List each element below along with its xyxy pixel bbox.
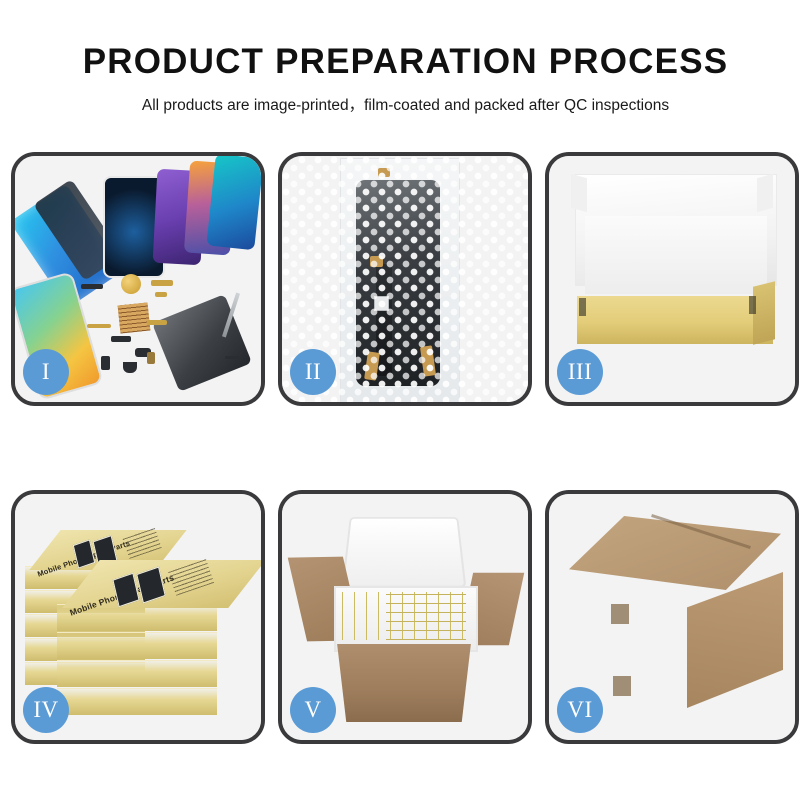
foam-lid	[342, 517, 467, 588]
screw-set	[225, 356, 239, 359]
box-notch-right	[749, 296, 756, 314]
step-panel-4[interactable]: Mobile Phone Spare Parts Mobile Phone Sp…	[11, 490, 265, 744]
part-strip-5	[123, 362, 137, 373]
kraft-box-front	[577, 296, 773, 344]
carton-side-face	[687, 572, 783, 708]
step-badge-4: IV	[23, 687, 69, 733]
step-panel-5[interactable]: V	[278, 490, 532, 744]
page-title: PRODUCT PREPARATION PROCESS	[0, 44, 811, 81]
carton-tape-upper	[611, 604, 629, 624]
speaker-module	[121, 274, 141, 294]
inner-white-lining	[585, 216, 767, 294]
connector-chip-grid	[118, 303, 151, 334]
step-panel-6[interactable]: VI	[545, 490, 799, 744]
step-badge-6: VI	[557, 687, 603, 733]
flex-cable-3	[147, 320, 167, 325]
page-subtitle: All products are image-printed，film-coat…	[0, 93, 811, 115]
stack-box-front-2	[57, 632, 217, 659]
flex-cable-1	[151, 280, 173, 286]
carton-front-wall	[328, 644, 480, 722]
phone-back-housing	[152, 294, 252, 392]
box-notch-left	[579, 298, 586, 316]
step-badge-5: V	[290, 687, 336, 733]
part-strip-2	[111, 336, 131, 342]
lid-flap-right	[757, 174, 773, 213]
part-strip-4	[101, 356, 110, 370]
phone-teal	[206, 154, 263, 251]
packed-boxes-row-2	[386, 590, 466, 640]
page-header: PRODUCT PREPARATION PROCESS All products…	[0, 0, 811, 115]
process-step-grid: I II III	[11, 152, 800, 744]
step-badge-3: III	[557, 349, 603, 395]
battery-connector	[147, 352, 155, 364]
part-strip-1	[81, 284, 103, 289]
carton-top-face	[569, 516, 781, 590]
kraft-box-side	[753, 281, 775, 344]
stack-box-front-4	[57, 688, 217, 715]
flex-cable-2	[155, 292, 167, 297]
step-panel-2[interactable]: II	[278, 152, 532, 406]
step-panel-1[interactable]: I	[11, 152, 265, 406]
step-panel-3[interactable]: III	[545, 152, 799, 406]
step-badge-2: II	[290, 349, 336, 395]
carton-tape-lower	[613, 676, 631, 696]
step-badge-1: I	[23, 349, 69, 395]
flex-cable-4	[87, 324, 111, 328]
stack-box-front-3	[57, 660, 217, 687]
lid-flap-left	[571, 174, 587, 213]
